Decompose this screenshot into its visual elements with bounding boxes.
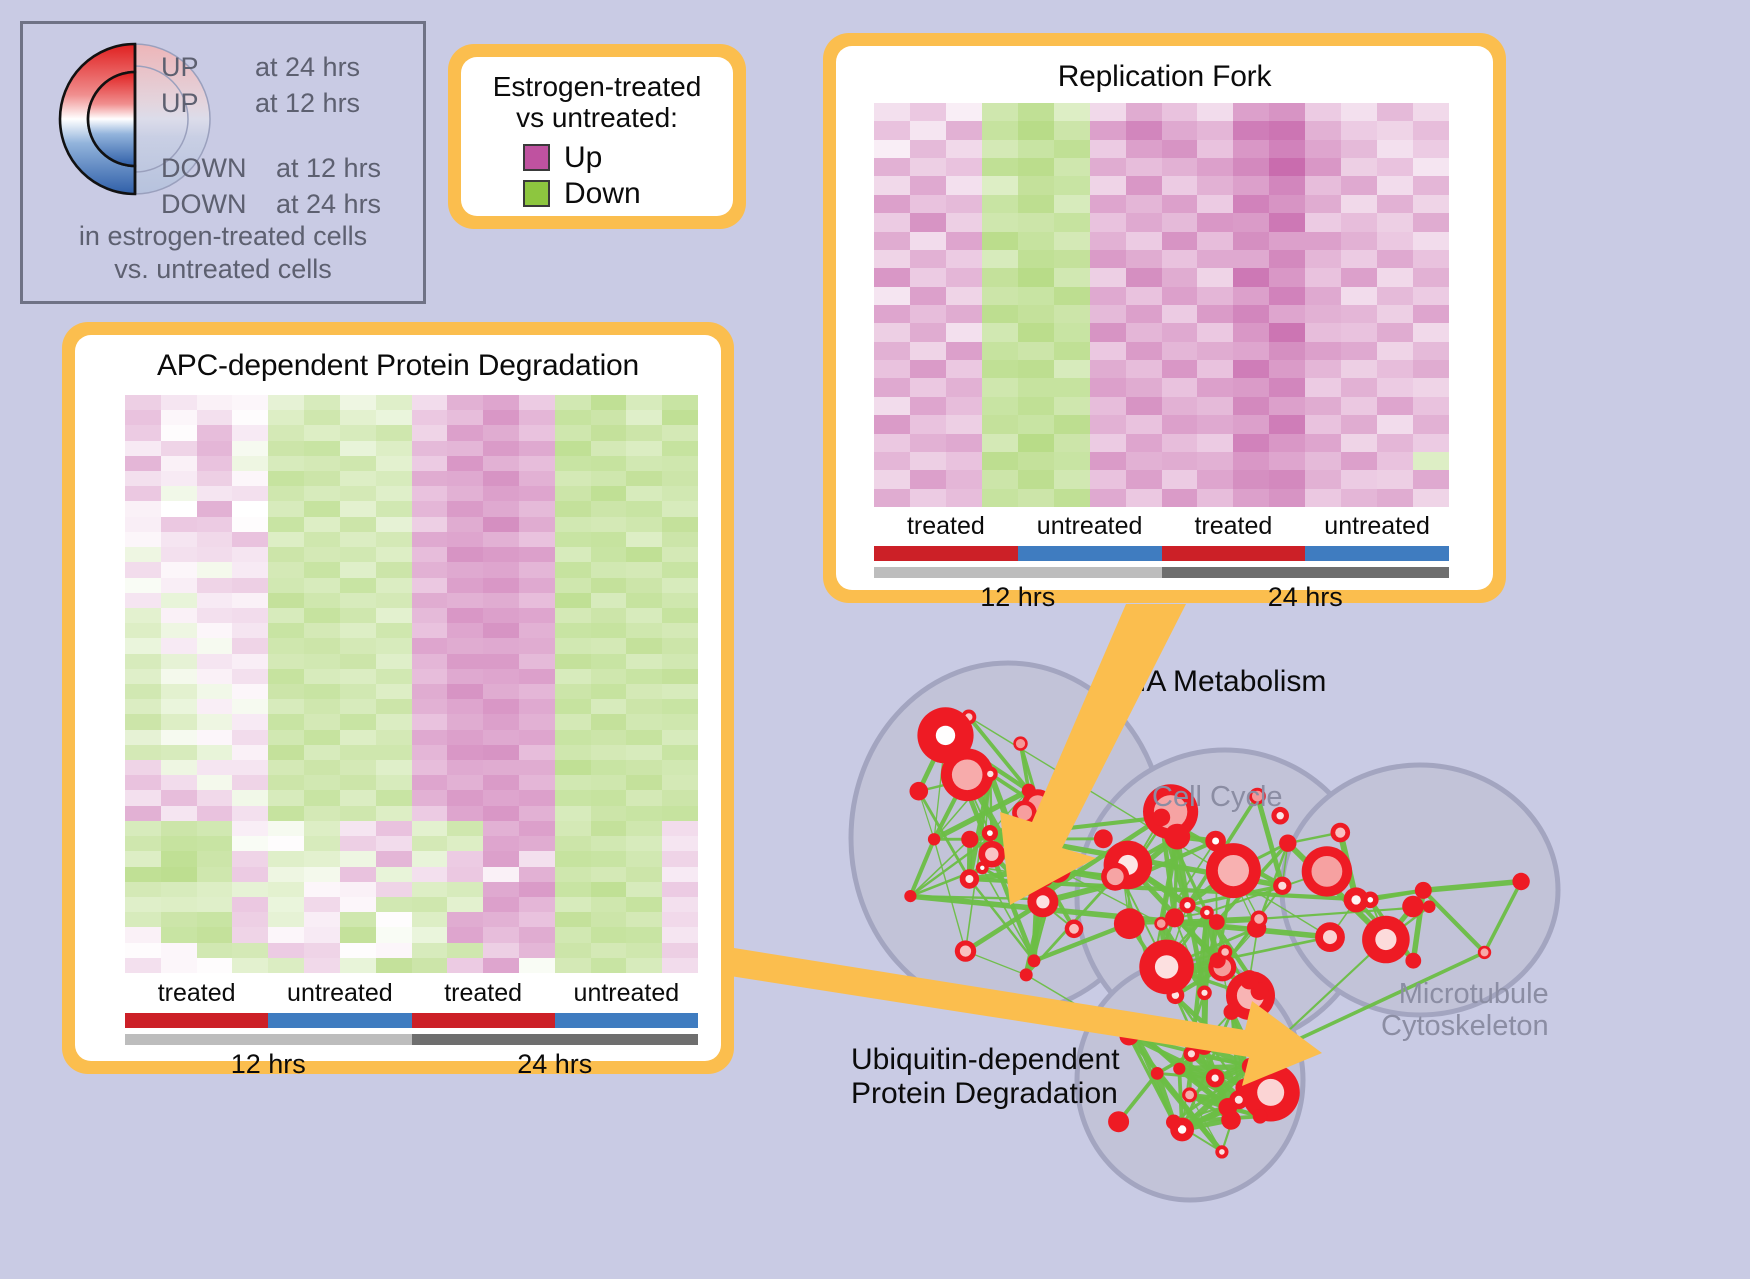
network-node-core [1481,948,1489,956]
heatmap-cell [591,760,627,775]
heatmap-cell [1269,415,1305,433]
heatmap-cell [519,593,555,608]
heatmap-cell [662,395,698,410]
heatmap-cell [376,760,412,775]
heatmap-cell [268,882,304,897]
heatmap-cell [519,790,555,805]
heatmap-cell [340,578,376,593]
heatmap-cell [1269,158,1305,176]
heatmap-cell [340,410,376,425]
heatmap-cell [555,547,591,562]
heatmap-cell [662,654,698,669]
network-node-core [1016,739,1025,748]
heatmap-cell [447,593,483,608]
heatmap-cell [662,790,698,805]
heatmap-cell [232,501,268,516]
heatmap-cell [376,410,412,425]
heatmap-cell [1090,213,1126,231]
time-label: 12 hrs [125,1049,412,1080]
heatmap-cell [340,790,376,805]
heatmap-cell [946,342,982,360]
heatmap-cell [1341,213,1377,231]
heatmap-cell [340,669,376,684]
network-node [1094,829,1113,848]
heatmap-cell [412,593,448,608]
heatmap-cell [910,158,946,176]
heatmap-cell [1126,213,1162,231]
heatmap-cell [519,608,555,623]
heatmap-cell [197,882,233,897]
heatmap-cell [1162,232,1198,250]
network-node [904,890,916,902]
heatmap-cell [555,851,591,866]
heatmap-cell [946,287,982,305]
heatmap-cell [555,730,591,745]
apc-degradation-inner: APC-dependent Protein Degradation treate… [75,335,721,1061]
heatmap-cell [304,441,340,456]
heatmap-cell [161,684,197,699]
heatmap-cell [268,608,304,623]
heatmap-cell [447,790,483,805]
network-node-core [952,760,983,791]
heatmap-cell [1090,452,1126,470]
heatmap-cell [1341,342,1377,360]
heatmap-cell [982,452,1018,470]
heatmap-cell [1162,452,1198,470]
heatmap-cell [340,867,376,882]
network-node [1279,835,1296,852]
heatmap-cell [161,441,197,456]
heatmap-cell [519,836,555,851]
heatmap-cell [483,851,519,866]
heatmap-cell [268,395,304,410]
network-node-core [1335,828,1345,838]
heatmap-cell [412,714,448,729]
heatmap-cell [197,471,233,486]
heatmap-cell [1305,378,1341,396]
network-node [1209,914,1225,930]
heatmap-cell [1054,121,1090,139]
heatmap-cell [197,517,233,532]
heatmap-cell [555,882,591,897]
heatmap-cell [519,517,555,532]
heatmap-cell [519,714,555,729]
heatmap-cell [268,593,304,608]
cluster-label-microtubule-line2: Cytoskeleton [1381,1010,1549,1042]
heatmap-cell [910,470,946,488]
heatmap-cell [662,684,698,699]
network-node [1020,968,1033,981]
heatmap-cell [161,775,197,790]
heatmap-cell [304,425,340,440]
heatmap-cell [591,638,627,653]
heatmap-cell [197,456,233,471]
network-node [928,833,940,845]
heatmap-cell [447,927,483,942]
heatmap-cell [268,562,304,577]
heatmap-cell [1377,287,1413,305]
heatmap-cell [1018,158,1054,176]
network-edge [1179,1066,1250,1068]
heatmap-cell [1054,434,1090,452]
heatmap-cell [232,836,268,851]
heatmap-cell [483,867,519,882]
cluster-label-microtubule-line1: Microtubule [1381,978,1549,1010]
heatmap-cell [1269,323,1305,341]
heatmap-cell [1377,415,1413,433]
heatmap-cell [340,456,376,471]
heatmap-cell [946,452,982,470]
heatmap-cell [662,851,698,866]
heatmap-cell [591,486,627,501]
heatmap-cell [982,489,1018,507]
heatmap-cell [125,927,161,942]
heatmap-cell [1377,213,1413,231]
heatmap-cell [304,714,340,729]
heatmap-cell [1162,415,1198,433]
heatmap-cell [376,836,412,851]
heatmap-cell [197,943,233,958]
heatmap-cell [232,425,268,440]
heatmap-cell [161,547,197,562]
heatmap-cell [340,699,376,714]
replication-fork-time-labels: 12 hrs 24 hrs [874,582,1449,613]
heatmap-cell [412,395,448,410]
heatmap-cell [1413,195,1449,213]
network-node-core [1212,1075,1219,1082]
heatmap-cell [232,943,268,958]
key-direction-1: UP [161,88,199,119]
heatmap-cell [447,654,483,669]
heatmap-cell [483,897,519,912]
network-node-core [965,875,973,883]
heatmap-cell [197,714,233,729]
heatmap-cell [874,140,910,158]
heatmap-cell [1377,434,1413,452]
heatmap-cell [232,562,268,577]
heatmap-cell [304,790,340,805]
heatmap-cell [519,425,555,440]
heatmap-cell [304,836,340,851]
heatmap-cell [1054,397,1090,415]
heatmap-cell [1341,397,1377,415]
heatmap-cell [1341,103,1377,121]
heatmap-cell [412,638,448,653]
heatmap-cell [910,489,946,507]
heatmap-cell [125,775,161,790]
heatmap-cell [910,140,946,158]
heatmap-cell [1233,323,1269,341]
heatmap-cell [197,638,233,653]
heatmap-cell [519,410,555,425]
heatmap-cell [591,730,627,745]
network-node-core [1368,897,1374,903]
heatmap-cell [1126,415,1162,433]
heatmap-cell [591,882,627,897]
heatmap-grid [874,103,1449,507]
heatmap-cell [268,547,304,562]
heatmap-cell [1377,360,1413,378]
heatmap-cell [1162,287,1198,305]
heatmap-cell [1233,195,1269,213]
heatmap-cell [1018,121,1054,139]
heatmap-cell [1233,434,1269,452]
heatmap-cell [1018,323,1054,341]
heatmap-cell [874,103,910,121]
heatmap-cell [1233,470,1269,488]
heatmap-cell [447,730,483,745]
heatmap-cell [447,425,483,440]
legend-title-line1: Estrogen-treated [461,71,733,102]
apc-degradation-panel: APC-dependent Protein Degradation treate… [62,322,734,1074]
heatmap-cell [591,927,627,942]
heatmap-cell [483,836,519,851]
heatmap-cell [1054,305,1090,323]
heatmap-cell [268,441,304,456]
heatmap-cell [197,867,233,882]
network-node [983,767,998,782]
heatmap-cell [447,562,483,577]
heatmap-cell [519,684,555,699]
heatmap-cell [591,456,627,471]
heatmap-cell [662,669,698,684]
condition-segment-untreated [555,1013,698,1028]
heatmap-cell [626,851,662,866]
heatmap-cell [1054,323,1090,341]
heatmap-cell [946,232,982,250]
heatmap-cell [1413,176,1449,194]
heatmap-cell [125,562,161,577]
heatmap-cell [340,806,376,821]
heatmap-cell [232,395,268,410]
heatmap-cell [125,897,161,912]
heatmap-cell [1018,342,1054,360]
heatmap-cell [662,562,698,577]
heatmap-cell [1054,158,1090,176]
heatmap-cell [412,532,448,547]
legend-items: Up Down [461,140,733,212]
pathway-network-diagram [760,610,1750,1279]
heatmap-cell [662,623,698,638]
heatmap-cell [161,730,197,745]
heatmap-cell [626,943,662,958]
heatmap-cell [519,927,555,942]
heatmap-cell [161,714,197,729]
heatmap-cell [1377,268,1413,286]
heatmap-cell [376,912,412,927]
replication-fork-title: Replication Fork [836,46,1493,94]
heatmap-cell [910,287,946,305]
heatmap-cell [161,836,197,851]
heatmap-cell [1090,232,1126,250]
heatmap-cell [1377,323,1413,341]
heatmap-cell [412,790,448,805]
heatmap-cell [197,760,233,775]
heatmap-cell [1054,250,1090,268]
heatmap-cell [874,250,910,268]
heatmap-cell [1341,158,1377,176]
heatmap-cell [1269,360,1305,378]
heatmap-cell [1341,287,1377,305]
heatmap-cell [626,456,662,471]
heatmap-cell [161,623,197,638]
heatmap-cell [232,912,268,927]
heatmap-cell [982,176,1018,194]
heatmap-cell [125,517,161,532]
heatmap-cell [626,699,662,714]
heatmap-cell [412,684,448,699]
heatmap-cell [1413,360,1449,378]
network-node [1423,900,1436,913]
heatmap-cell [483,699,519,714]
heatmap-cell [268,760,304,775]
heatmap-cell [519,730,555,745]
heatmap-cell [591,441,627,456]
heatmap-cell [1162,176,1198,194]
heatmap-cell [340,425,376,440]
heatmap-cell [232,775,268,790]
heatmap-cell [626,547,662,562]
heatmap-cell [304,578,340,593]
heatmap-cell [1126,140,1162,158]
heatmap-cell [232,714,268,729]
heatmap-cell [376,821,412,836]
heatmap-cell [304,623,340,638]
heatmap-cell [125,410,161,425]
heatmap-cell [161,867,197,882]
heatmap-cell [1305,232,1341,250]
heatmap-cell [1126,250,1162,268]
network-node [1362,892,1379,909]
heatmap-cell [1162,250,1198,268]
heatmap-cell [304,821,340,836]
network-node-core [1235,1096,1243,1104]
heatmap-cell [447,623,483,638]
heatmap-cell [982,140,1018,158]
heatmap-cell [555,669,591,684]
heatmap-cell [447,410,483,425]
heatmap-cell [304,456,340,471]
heatmap-cell [125,501,161,516]
cluster-label-cell-cycle: Cell Cycle [1152,781,1283,813]
heatmap-cell [1233,305,1269,323]
heatmap-cell [447,578,483,593]
heatmap-cell [1269,378,1305,396]
network-edge [1204,913,1207,1047]
heatmap-cell [483,578,519,593]
heatmap-cell [1377,489,1413,507]
heatmap-cell [910,360,946,378]
heatmap-cell [376,699,412,714]
heatmap-cell [874,213,910,231]
heatmap-cell [125,730,161,745]
heatmap-cell [1377,158,1413,176]
heatmap-cell [1090,287,1126,305]
heatmap-cell [591,532,627,547]
heatmap-cell [1018,287,1054,305]
network-node-core [1257,1079,1284,1106]
heatmap-cell [1126,268,1162,286]
heatmap-cell [376,395,412,410]
heatmap-cell [626,714,662,729]
heatmap-cell [1269,213,1305,231]
heatmap-cell [304,669,340,684]
heatmap-cell [519,882,555,897]
apc-degradation-heatmap [125,395,698,973]
heatmap-cell [412,669,448,684]
heatmap-cell [1090,342,1126,360]
heatmap-cell [483,669,519,684]
heatmap-cell [946,489,982,507]
heatmap-cell [376,486,412,501]
heatmap-cell [197,578,233,593]
heatmap-cell [1162,140,1198,158]
heatmap-cell [591,501,627,516]
network-svg [760,610,1750,1279]
heatmap-cell [412,471,448,486]
heatmap-cell [125,790,161,805]
heatmap-cell [1269,470,1305,488]
heatmap-cell [232,958,268,973]
heatmap-cell [483,790,519,805]
heatmap-cell [1018,195,1054,213]
heatmap-cell [910,323,946,341]
heatmap-cell [161,851,197,866]
heatmap-cell [376,638,412,653]
heatmap-cell [161,578,197,593]
network-node-core [1323,930,1337,944]
heatmap-cell [161,410,197,425]
heatmap-cell [483,562,519,577]
heatmap-cell [591,593,627,608]
heatmap-cell [1233,342,1269,360]
heatmap-cell [662,471,698,486]
heatmap-cell [304,532,340,547]
heatmap-cell [161,532,197,547]
heatmap-cell [1341,489,1377,507]
heatmap-cell [1162,323,1198,341]
heatmap-cell [483,471,519,486]
heatmap-cell [591,517,627,532]
heatmap-cell [555,395,591,410]
network-node [1512,873,1529,890]
heatmap-cell [340,760,376,775]
heatmap-cell [1413,415,1449,433]
heatmap-cell [125,608,161,623]
heatmap-cell [376,562,412,577]
heatmap-cell [982,250,1018,268]
heatmap-cell [555,517,591,532]
heatmap-cell [232,547,268,562]
heatmap-cell [125,821,161,836]
heatmap-cell [483,760,519,775]
heatmap-cell [412,836,448,851]
condition-segment-treated [874,546,1018,561]
heatmap-cell [982,103,1018,121]
heatmap-cell [412,927,448,942]
heatmap-cell [268,638,304,653]
heatmap-cell [412,456,448,471]
time-label: 24 hrs [412,1049,699,1080]
heatmap-cell [626,790,662,805]
heatmap-cell [555,958,591,973]
heatmap-cell [376,593,412,608]
heatmap-cell [519,654,555,669]
heatmap-cell [447,943,483,958]
heatmap-cell [483,547,519,562]
heatmap-cell [376,806,412,821]
heatmap-cell [1162,378,1198,396]
